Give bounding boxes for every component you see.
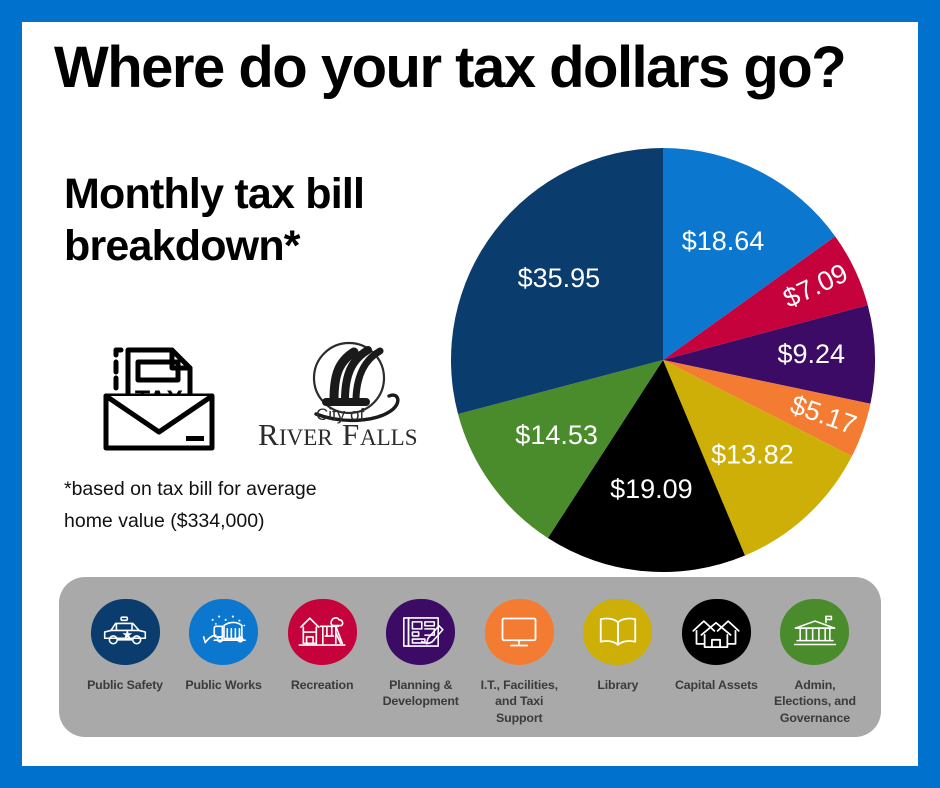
blueprint-pencil-icon [386, 599, 455, 665]
branding-row: TAX City of [66, 334, 446, 456]
legend-item-public-works[interactable]: Public Works [176, 599, 272, 693]
footnote: *based on tax bill for average home valu… [64, 474, 404, 537]
pie-slice-label: $35.95 [518, 263, 601, 293]
pie-slice-label: $14.53 [515, 420, 598, 450]
svg-text:F: F [342, 417, 359, 452]
legend-item-admin-elections-and-governance[interactable]: Admin, Elections, and Governance [767, 599, 863, 726]
envelope-slot [186, 436, 204, 441]
snow-plow-truck-icon [189, 599, 258, 665]
page-title: Where do your tax dollars go? [54, 38, 886, 99]
svg-text:R: R [258, 417, 279, 452]
pie-slice-label: $18.64 [682, 226, 765, 256]
subtitle: Monthly tax bill breakdown* [64, 168, 424, 273]
legend-item-recreation[interactable]: Recreation [274, 599, 370, 693]
city-of-river-falls-logo: City of R IVER F ALLS [256, 340, 431, 457]
legend-item-label: Public Works [185, 677, 261, 693]
legend-item-label: Planning & Development [373, 677, 469, 710]
tax-breakdown-pie-chart: $18.64$7.09$9.24$5.17$13.82$19.09$14.53$… [420, 122, 890, 572]
legend-item-label: Capital Assets [675, 677, 758, 693]
pie-slice-label: $9.24 [778, 339, 846, 369]
playground-icon [288, 599, 357, 665]
legend-item-label: Recreation [291, 677, 354, 693]
pie-slice-label: $19.09 [610, 474, 693, 504]
legend-item-label: Admin, Elections, and Governance [767, 677, 863, 726]
legend-item-capital-assets[interactable]: Capital Assets [668, 599, 764, 693]
computer-monitor-icon [485, 599, 554, 665]
svg-text:IVER: IVER [279, 425, 333, 450]
open-book-icon [583, 599, 652, 665]
footnote-line-2: home value ($334,000) [64, 506, 404, 538]
legend-item-library[interactable]: Library [570, 599, 666, 693]
police-car-icon [91, 599, 160, 665]
footnote-line-1: *based on tax bill for average [64, 474, 404, 506]
subtitle-line-2: breakdown* [64, 220, 424, 272]
houses-icon [682, 599, 751, 665]
legend-item-public-safety[interactable]: Public Safety [77, 599, 173, 693]
legend-item-planning-development[interactable]: Planning & Development [373, 599, 469, 710]
tax-envelope-icon: TAX [94, 336, 224, 459]
pie-chart-svg: $18.64$7.09$9.24$5.17$13.82$19.09$14.53$… [420, 122, 890, 572]
legend-item-label: Library [597, 677, 638, 693]
legend-items-container: Public SafetyPublic WorksRecreationPlann… [59, 577, 881, 737]
legend-item-i-t-facilities-and-taxi-support[interactable]: I.T., Facilities, and Taxi Support [471, 599, 567, 726]
svg-text:ALLS: ALLS [360, 425, 418, 450]
legend-item-label: I.T., Facilities, and Taxi Support [471, 677, 567, 726]
government-building-icon [780, 599, 849, 665]
poster-frame: Where do your tax dollars go? Monthly ta… [22, 22, 918, 766]
pie-slice-label: $13.82 [711, 439, 794, 469]
legend-item-label: Public Safety [87, 677, 163, 693]
legend-panel: Public SafetyPublic WorksRecreationPlann… [59, 577, 881, 737]
subtitle-line-1: Monthly tax bill [64, 168, 424, 220]
